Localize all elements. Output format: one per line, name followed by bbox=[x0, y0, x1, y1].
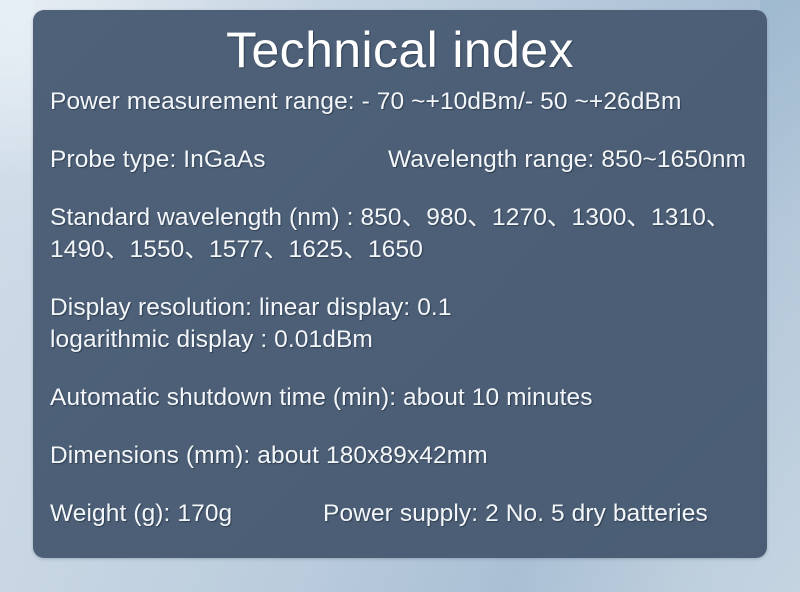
spacer bbox=[50, 118, 756, 144]
spec-wavelength-range: Wavelength range: 850~1650nm bbox=[388, 144, 746, 176]
spec-line: Power measurement range: - 70 ~+10dBm/- … bbox=[50, 86, 756, 118]
spec-line: Display resolution: linear display: 0.1 bbox=[50, 292, 756, 324]
spec-automatic-shutdown-time: Automatic shutdown time (min): about 10 … bbox=[50, 382, 756, 414]
spec-standard-wavelength: Standard wavelength (nm) : 850、980、1270、… bbox=[50, 202, 756, 266]
spec-weight-and-power-supply: Weight (g): 170g Power supply: 2 No. 5 d… bbox=[50, 498, 756, 530]
slide-canvas: Technical index Power measurement range:… bbox=[0, 0, 800, 592]
spacer bbox=[50, 356, 756, 382]
spec-line: Dimensions (mm): about 180x89x42mm bbox=[50, 440, 756, 472]
spec-line: Standard wavelength (nm) : 850、980、1270、… bbox=[50, 202, 756, 234]
spec-line: 1490、1550、1577、1625、1650 bbox=[50, 234, 756, 266]
spacer bbox=[50, 414, 756, 440]
spacer bbox=[50, 176, 756, 202]
spec-display-resolution: Display resolution: linear display: 0.1 … bbox=[50, 292, 756, 356]
spec-power-measurement-range: Power measurement range: - 70 ~+10dBm/- … bbox=[50, 86, 756, 118]
spec-probe-type: Probe type: InGaAs bbox=[50, 144, 266, 176]
spec-weight: Weight (g): 170g bbox=[50, 498, 232, 530]
spec-line: logarithmic display : 0.01dBm bbox=[50, 324, 756, 356]
technical-index-panel: Technical index Power measurement range:… bbox=[33, 10, 767, 558]
spec-power-supply: Power supply: 2 No. 5 dry batteries bbox=[323, 498, 708, 530]
spec-dimensions: Dimensions (mm): about 180x89x42mm bbox=[50, 440, 756, 472]
background-sheen-left bbox=[0, 0, 34, 592]
spacer bbox=[50, 472, 756, 498]
spec-probe-and-wavelength: Probe type: InGaAs Wavelength range: 850… bbox=[50, 144, 756, 176]
spec-line: Automatic shutdown time (min): about 10 … bbox=[50, 382, 756, 414]
specs-list: Power measurement range: - 70 ~+10dBm/- … bbox=[50, 86, 756, 530]
spacer bbox=[50, 266, 756, 292]
page-title: Technical index bbox=[33, 18, 767, 82]
